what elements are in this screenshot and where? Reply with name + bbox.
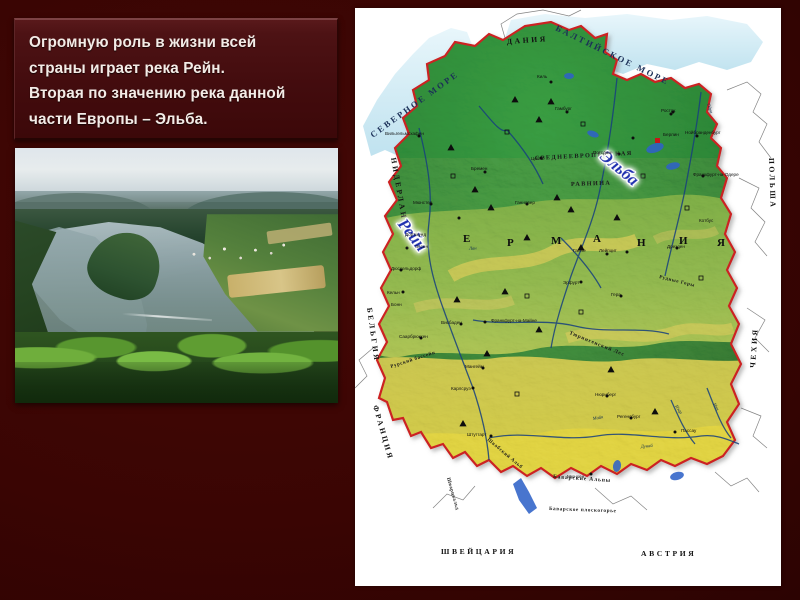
slide-canvas: Огромную роль в жизни всей страны играет… bbox=[0, 0, 800, 600]
germany-letter-6: Н bbox=[637, 237, 647, 249]
city-label-gera: Гера bbox=[611, 292, 621, 297]
germany-letter-5: А bbox=[593, 233, 602, 245]
city-label-erfurt: Эрфурт bbox=[563, 280, 580, 285]
city-label-celle: Целле bbox=[531, 156, 545, 161]
photo-foreground-shadow bbox=[15, 362, 338, 403]
city-label-hannover: Ганновер bbox=[515, 200, 535, 205]
city-label-saarbruecken: Саарбрюккен bbox=[399, 334, 428, 339]
city-label-muenster: Мюнстер bbox=[413, 200, 433, 205]
label-poland: ПОЛЬША bbox=[767, 158, 778, 210]
city-label-passau: Пассау bbox=[681, 428, 697, 433]
city-label-regensburg: Регенсбург bbox=[617, 414, 641, 419]
city-label-leipzig: Лейпциг bbox=[599, 247, 617, 253]
city-label-muenchen: Мюнхен bbox=[567, 474, 585, 479]
germany-letter-4: М bbox=[551, 235, 562, 247]
city-label-potsdam: Потсдам bbox=[593, 150, 612, 155]
city-label-frankfurt-main: Франкфурт-на-Майне bbox=[491, 317, 537, 323]
city-label-halle: Галле bbox=[573, 248, 586, 253]
city-label-berlin: Берлин bbox=[663, 132, 679, 137]
label-austria: АВСТРИЯ bbox=[641, 549, 696, 558]
city-label-dresden: Дрезден bbox=[667, 244, 685, 249]
city-label-wiesbaden: Висбаден bbox=[441, 320, 462, 325]
city-label-bonn: Бонн bbox=[391, 302, 402, 307]
map-svg: СЕВЕРНОЕ МОРЕ БАЛТИЙСКОЕ МОРЕ ДАНИЯ НИДЕ… bbox=[355, 8, 781, 586]
rhine-river-photo bbox=[15, 148, 338, 403]
city-label-essen: Эссен bbox=[415, 244, 428, 249]
label-switzerland: ШВЕЙЦАРИЯ bbox=[441, 547, 516, 556]
city-label-koeln: Кельн bbox=[387, 290, 400, 295]
city-label-mannheim: Мангейм bbox=[465, 363, 484, 369]
caption-text: Огромную роль в жизни всей страны играет… bbox=[29, 30, 325, 132]
city-label-bremen: Бремен bbox=[471, 166, 488, 171]
city-label-nuernberg: Нюрнберг bbox=[595, 392, 617, 397]
city-label-wilhelmshaven: Вильгельмсхафен bbox=[385, 131, 424, 136]
capital-marker-berlin bbox=[655, 138, 660, 143]
germany-letter-8: Я bbox=[717, 237, 726, 249]
city-label-duesseldorf: Дюссельдорф bbox=[391, 266, 421, 271]
city-label-frankfurt-oder: Франкфурт-на-Одере bbox=[693, 172, 739, 177]
city-label-kiel: Киль bbox=[537, 74, 548, 79]
city-label-karlsruhe: Карлсруэ bbox=[451, 386, 471, 391]
germany-physical-map-panel: СЕВЕРНОЕ МОРЕ БАЛТИЙСКОЕ МОРЕ ДАНИЯ НИДЕ… bbox=[355, 8, 781, 586]
city-label-hamburg: Гамбург bbox=[555, 106, 572, 111]
label-river-lahn: Лан bbox=[468, 245, 478, 251]
lake-coastal bbox=[564, 73, 574, 79]
city-label-neubrandenburg: Нойбранденбург bbox=[685, 129, 721, 135]
city-label-cottbus: Котбус bbox=[699, 218, 714, 223]
germany-map-image: СЕВЕРНОЕ МОРЕ БАЛТИЙСКОЕ МОРЕ ДАНИЯ НИДЕ… bbox=[355, 8, 781, 586]
label-plain: РАВНИНА bbox=[571, 180, 612, 188]
city-label-rostock: Росток bbox=[661, 108, 676, 113]
city-label-stuttgart: Штутгарт bbox=[467, 432, 487, 437]
rhine-river-photo-image bbox=[15, 148, 338, 403]
germany-letter-2: Е bbox=[463, 233, 471, 245]
germany-letter-3: Р bbox=[507, 237, 515, 249]
city-label-dortmund: Дортмунд bbox=[405, 232, 426, 237]
caption-text-box: Огромную роль в жизни всей страны играет… bbox=[14, 18, 338, 140]
